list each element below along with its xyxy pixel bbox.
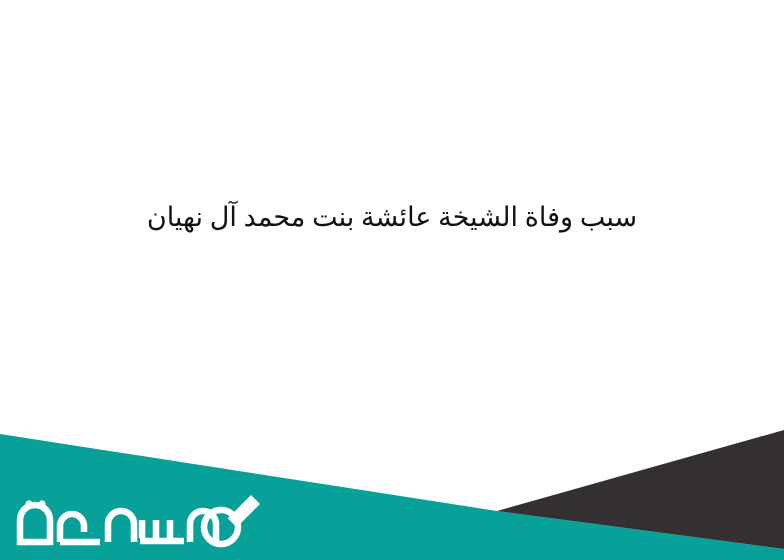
logo-letter-seen xyxy=(140,520,184,541)
logo-letter-ta-marbuta xyxy=(20,505,50,542)
article-cover-card: سبب وفاة الشيخة عائشة بنت محمد آل نهيان xyxy=(0,0,784,560)
dark-diagonal-wedge xyxy=(497,430,784,549)
logo-letter-ain xyxy=(60,514,84,542)
headline-area: سبب وفاة الشيخة عائشة بنت محمد آل نهيان xyxy=(0,0,784,434)
page-title: سبب وفاة الشيخة عائشة بنت محمد آل نهيان xyxy=(147,199,637,235)
logo-letter-waw xyxy=(108,511,134,542)
logo-dot-right xyxy=(38,500,45,507)
brand-logo[interactable]: موسوعة xyxy=(8,470,268,552)
logo-dot-left xyxy=(25,500,32,507)
